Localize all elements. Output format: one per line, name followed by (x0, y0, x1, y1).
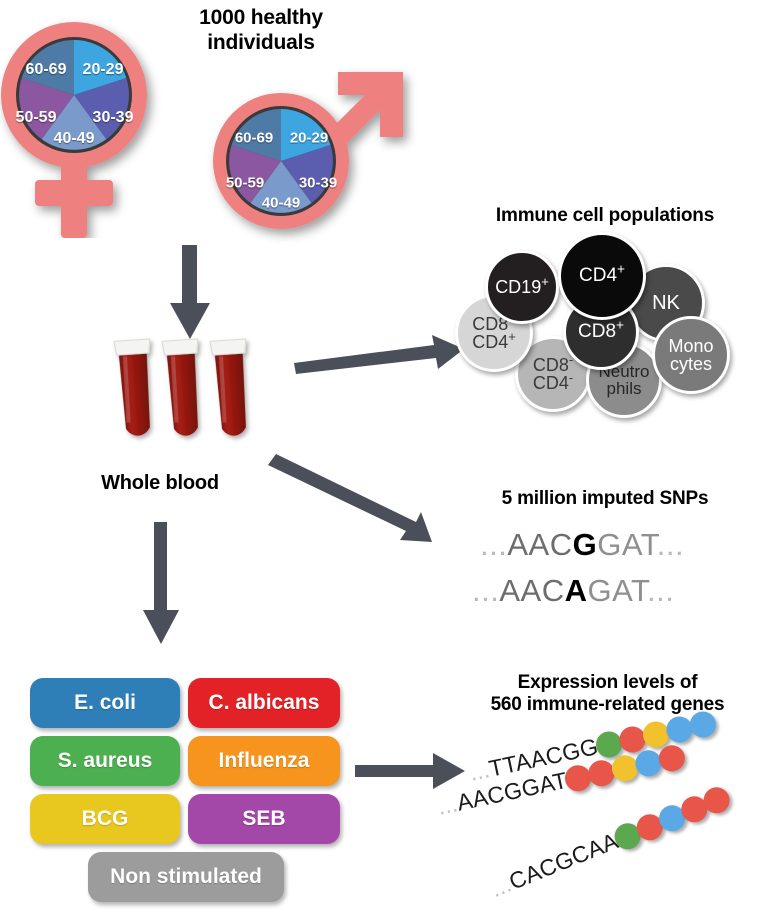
blood-tube (162, 339, 205, 437)
male-symbol: 20-29 30-39 40-49 50-59 60-69 (197, 60, 417, 260)
female-symbol: 20-29 30-39 40-49 50-59 60-69 (0, 8, 230, 238)
snp-sequence-row: ...AACAGAT... (472, 573, 674, 609)
blood-tube (114, 339, 157, 437)
snp-suffix: ... (657, 527, 684, 562)
cell-cd4pos: CD4+ (558, 232, 646, 320)
cell-monocytes: Mono cytes (652, 316, 730, 394)
snps-title: 5 million imputed SNPs (455, 488, 755, 510)
immune-cell-populations-title: Immune cell populations (455, 205, 755, 227)
snp-prefix: ... (472, 573, 499, 608)
snp-right-flank: GAT (597, 527, 657, 562)
snp-prefix: ... (480, 527, 507, 562)
stimulus-influenza[interactable]: Influenza (188, 736, 340, 786)
cell-label: NK (652, 293, 680, 313)
stimulus-seb[interactable]: SEB (188, 794, 340, 844)
snp-variant-allele: G (573, 527, 598, 562)
gene-sequence-bases: CACGCAA (505, 827, 622, 894)
cell-label-line1: Mono (668, 337, 713, 355)
stimulus-non-stimulated[interactable]: Non stimulated (88, 852, 284, 902)
cell-label-line2: cytes (668, 355, 713, 373)
cell-label: CD4+ (579, 266, 625, 285)
arrow-blood-to-immune-cells (292, 322, 472, 382)
snp-right-flank: GAT (587, 573, 647, 608)
cell-cd19pos: CD19+ (485, 250, 559, 324)
male-symbol-graphic (197, 60, 417, 260)
blood-tube (210, 339, 253, 437)
cell-label: CD19+ (495, 278, 549, 296)
stimulus-s-aureus[interactable]: S. aureus (30, 736, 180, 786)
whole-blood-label: Whole blood (60, 472, 260, 496)
expression-title: Expression levels of 560 immune-related … (450, 672, 765, 717)
gene-sequence: ...CACGCAA (487, 827, 622, 902)
figure-canvas: 1000 healthy individuals (0, 0, 771, 922)
stimulus-c-albicans[interactable]: C. albicans (188, 678, 340, 728)
cell-label-line2: phils (598, 380, 649, 397)
snp-sequences: ...AACGGAT... ...AACAGAT... (462, 527, 752, 617)
arrow-blood-to-stimuli (140, 522, 210, 647)
stimulus-bcg[interactable]: BCG (30, 794, 180, 844)
female-age-pie (19, 40, 129, 150)
immune-cell-cluster: CD8+ CD4+ CD19+ CD4+ NK CD8+ CD8- CD4- N… (455, 232, 755, 422)
stimulus-e-coli[interactable]: E. coli (30, 678, 180, 728)
snp-suffix: ... (647, 573, 674, 608)
arrow-blood-to-snps (262, 442, 462, 552)
gene-bead (687, 709, 718, 740)
snp-sequence-row: ...AACGGAT... (480, 527, 684, 563)
gene-bead (656, 742, 687, 773)
snp-left-flank: AAC (507, 527, 572, 562)
snp-variant-allele: A (565, 573, 588, 608)
cell-label-line1: CD8- (533, 356, 573, 374)
male-age-pie (229, 109, 333, 213)
cell-label-line2: CD4- (533, 374, 573, 392)
expression-title-line1: Expression levels of (450, 672, 765, 694)
cell-label-line2: CD4+ (472, 333, 516, 351)
gene-expression-strands: ...TTAACGG ...AACGGAT ...CACGCAA (450, 712, 770, 912)
cell-label: CD8+ (578, 322, 624, 341)
snp-left-flank: AAC (499, 573, 564, 608)
blood-tubes (108, 330, 268, 475)
blood-tubes-graphic (108, 330, 268, 470)
female-symbol-graphic (0, 8, 230, 238)
